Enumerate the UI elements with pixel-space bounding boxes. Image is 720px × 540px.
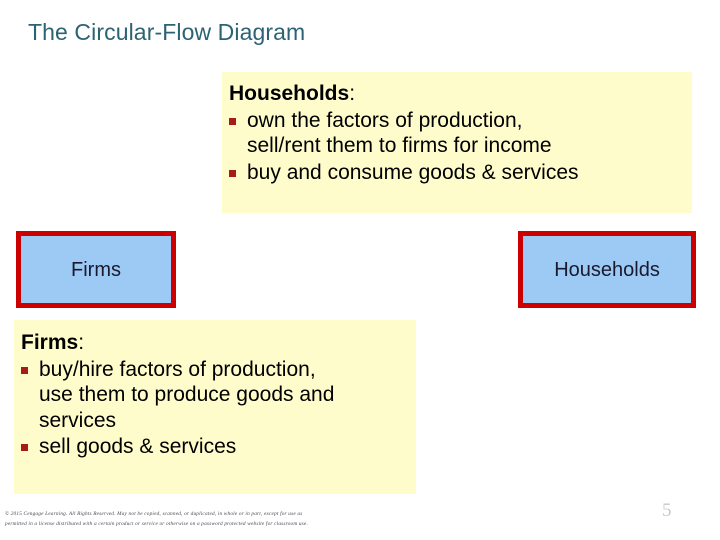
list-item: own the factors of production, sell/rent… <box>229 108 686 159</box>
households-bullet-list: own the factors of production, sell/rent… <box>229 108 686 186</box>
households-callout-heading: Households: <box>229 81 686 107</box>
list-item: buy/hire factors of production, use them… <box>21 357 410 434</box>
firms-callout-box: Firms: buy/hire factors of production, u… <box>14 320 416 494</box>
bullet-line-1: own the factors of production, <box>247 108 686 134</box>
households-actor-label: Households <box>554 259 660 281</box>
list-item: buy and consume goods & services <box>229 160 686 186</box>
slide-canvas: The Circular-Flow Diagram Households: ow… <box>0 0 720 540</box>
copyright-notice: © 2015 Cengage Learning. All Rights Rese… <box>5 510 450 530</box>
firms-bullet-list: buy/hire factors of production, use them… <box>21 357 410 460</box>
page-number: 5 <box>662 500 672 522</box>
bullet-line-2: sell/rent them to firms for income <box>247 134 552 157</box>
copyright-line-1: © 2015 Cengage Learning. All Rights Rese… <box>5 510 450 520</box>
copyright-line-2: permitted in a license distributed with … <box>5 520 450 530</box>
bullet-line-1: buy/hire factors of production, <box>39 357 410 383</box>
square-bullet-icon <box>21 367 28 374</box>
bullet-line-1: buy and consume goods & services <box>247 160 686 186</box>
households-callout-box: Households: own the factors of productio… <box>222 72 692 213</box>
square-bullet-icon <box>229 118 236 125</box>
firms-actor-label: Firms <box>71 259 121 281</box>
bullet-line-2: use them to produce goods <box>39 383 294 406</box>
square-bullet-icon <box>229 170 236 177</box>
page-title: The Circular-Flow Diagram <box>28 19 305 47</box>
list-item: sell goods & services <box>21 434 410 460</box>
firms-callout-heading-text: Firms <box>21 331 78 354</box>
firms-actor-box[interactable]: Firms <box>16 231 176 308</box>
households-callout-heading-colon: : <box>349 82 355 105</box>
firms-callout-heading: Firms: <box>21 330 410 356</box>
bullet-line-1: sell goods & services <box>39 434 410 460</box>
firms-callout-heading-colon: : <box>78 331 84 354</box>
square-bullet-icon <box>21 444 28 451</box>
households-actor-box[interactable]: Households <box>518 231 696 308</box>
households-callout-heading-text: Households <box>229 82 349 105</box>
